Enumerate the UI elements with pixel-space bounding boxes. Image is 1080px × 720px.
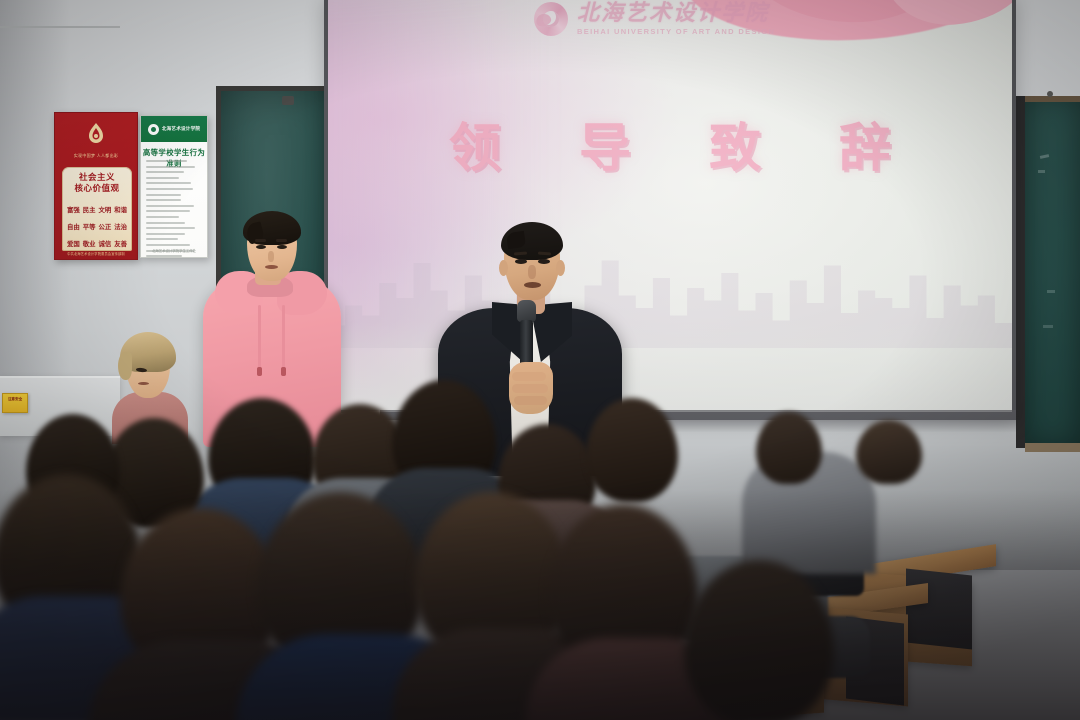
poster-text-line	[146, 238, 178, 240]
poster-footer: 北海艺术设计学院学生工作处	[141, 248, 207, 253]
eye-left	[256, 245, 266, 249]
student-head	[756, 412, 822, 484]
poster-title-line1: 社会主义	[79, 173, 115, 183]
core-value-term: 爱国	[67, 239, 80, 248]
poster-text-line	[146, 222, 185, 224]
flame-emblem-icon	[83, 122, 109, 148]
university-logo-icon	[148, 124, 159, 135]
desk-shadow-gap	[906, 569, 972, 650]
student-code-of-conduct-poster: 北海艺术设计学院 高等学校学生行为准则 北海艺术设计学院学生工作处	[140, 115, 208, 258]
poster-text-line	[146, 199, 181, 201]
hoodie-drawstring-left	[258, 305, 261, 369]
core-values-row: 爱国敬业诚信友善	[65, 239, 129, 248]
cabinet-seam	[0, 26, 120, 28]
logo-name-en: BEIHAI UNIVERSITY OF ART AND DESIGN	[577, 28, 775, 36]
poster-header-logo-text: 北海艺术设计学院	[162, 126, 200, 132]
core-value-term: 自由	[67, 222, 80, 231]
ear-right	[556, 260, 565, 276]
poster-text-line	[146, 166, 195, 168]
chalkboard-right	[1016, 96, 1080, 448]
poster-text-line	[146, 194, 181, 196]
poster-text-line	[146, 177, 179, 179]
poster-text-line	[146, 182, 191, 184]
safety-notice-sign: 注意安全	[2, 393, 28, 413]
core-value-term: 平等	[83, 222, 96, 231]
swirl-logo-icon	[534, 2, 568, 36]
chalk-mark	[1038, 170, 1045, 173]
mouth	[524, 282, 541, 288]
eyebrow-left	[255, 239, 266, 242]
eye-right	[277, 245, 287, 249]
finger	[512, 372, 546, 381]
finger	[512, 384, 548, 393]
core-value-term: 友善	[114, 239, 127, 248]
poster-header-bar: 北海艺术设计学院	[141, 116, 207, 142]
eyebrow-right	[276, 239, 287, 242]
nose	[528, 265, 536, 279]
slide-logo-text: 北海艺术设计学院 BEIHAI UNIVERSITY OF ART AND DE…	[577, 2, 775, 36]
hair-side	[118, 352, 132, 380]
poster-text-line	[146, 227, 195, 229]
chalkboard-pin-icon	[1047, 91, 1053, 97]
core-value-term: 公正	[98, 222, 111, 231]
poster-title: 社会主义 核心价值观	[62, 173, 132, 194]
poster-panel: 社会主义 核心价值观 富强民主文明和谐自由平等公正法治爱国敬业诚信友善	[62, 167, 132, 251]
nose	[268, 251, 274, 262]
poster-text-line	[146, 233, 185, 235]
core-value-term: 文明	[98, 205, 111, 214]
poster-title-line2: 核心价值观	[74, 184, 119, 194]
core-value-term: 诚信	[98, 239, 111, 248]
safety-notice-text: 注意安全	[3, 394, 27, 402]
core-value-term: 法治	[114, 222, 127, 231]
poster-body-text	[146, 160, 204, 258]
hair	[243, 211, 301, 245]
ear-left	[499, 260, 508, 276]
poster-text-line	[146, 160, 187, 162]
poster-text-line	[146, 205, 194, 207]
hair	[501, 222, 563, 260]
core-values-row: 自由平等公正法治	[65, 222, 129, 231]
poster-text-line	[146, 171, 184, 173]
chalk-tray	[1025, 443, 1080, 452]
drawstring-tip-right	[281, 367, 286, 376]
chalkboard-clip-icon	[282, 96, 294, 105]
eye-left	[515, 259, 527, 264]
slide-title: 领 导 致 辞	[328, 106, 1012, 181]
projection-screen: 北海艺术设计学院 BEIHAI UNIVERSITY OF ART AND DE…	[328, 0, 1012, 412]
hoodie-drawstring-right	[282, 305, 285, 369]
poster-text-line	[146, 255, 182, 257]
socialist-core-values-poster: 实现中国梦 人人都出彩 社会主义 核心价值观 富强民主文明和谐自由平等公正法治爱…	[54, 112, 138, 260]
chalk-mark	[1047, 290, 1055, 293]
poster-text-line	[146, 216, 179, 218]
slide-university-logo: 北海艺术设计学院 BEIHAI UNIVERSITY OF ART AND DE…	[534, 2, 775, 36]
chalkboard-right-top-rail	[1025, 96, 1080, 102]
mouth	[138, 382, 149, 385]
poster-footer: 中共北海艺术设计学院委员会宣传部制	[55, 251, 137, 256]
core-values-row: 富强民主文明和谐	[65, 205, 129, 214]
mouth	[265, 265, 278, 269]
core-value-term: 敬业	[83, 239, 96, 248]
core-value-term: 富强	[67, 205, 80, 214]
finger	[514, 396, 547, 405]
drawstring-tip-left	[257, 367, 262, 376]
core-values-list: 富强民主文明和谐自由平等公正法治爱国敬业诚信友善	[65, 205, 129, 256]
chalk-mark	[1043, 325, 1053, 328]
poster-text-line	[146, 188, 193, 190]
core-value-term: 民主	[83, 205, 96, 214]
audience-head	[856, 420, 922, 484]
classroom-photo-scene: 北海艺术设计学院 BEIHAI UNIVERSITY OF ART AND DE…	[0, 0, 1080, 720]
eye-right	[538, 259, 550, 264]
poster-text-line	[146, 210, 190, 212]
poster-text-line	[146, 244, 190, 246]
core-value-term: 和谐	[114, 205, 127, 214]
poster-subhead: 实现中国梦 人人都出彩	[55, 153, 137, 159]
microphone-head-icon	[517, 300, 536, 322]
logo-name-cn: 北海艺术设计学院	[577, 2, 775, 24]
